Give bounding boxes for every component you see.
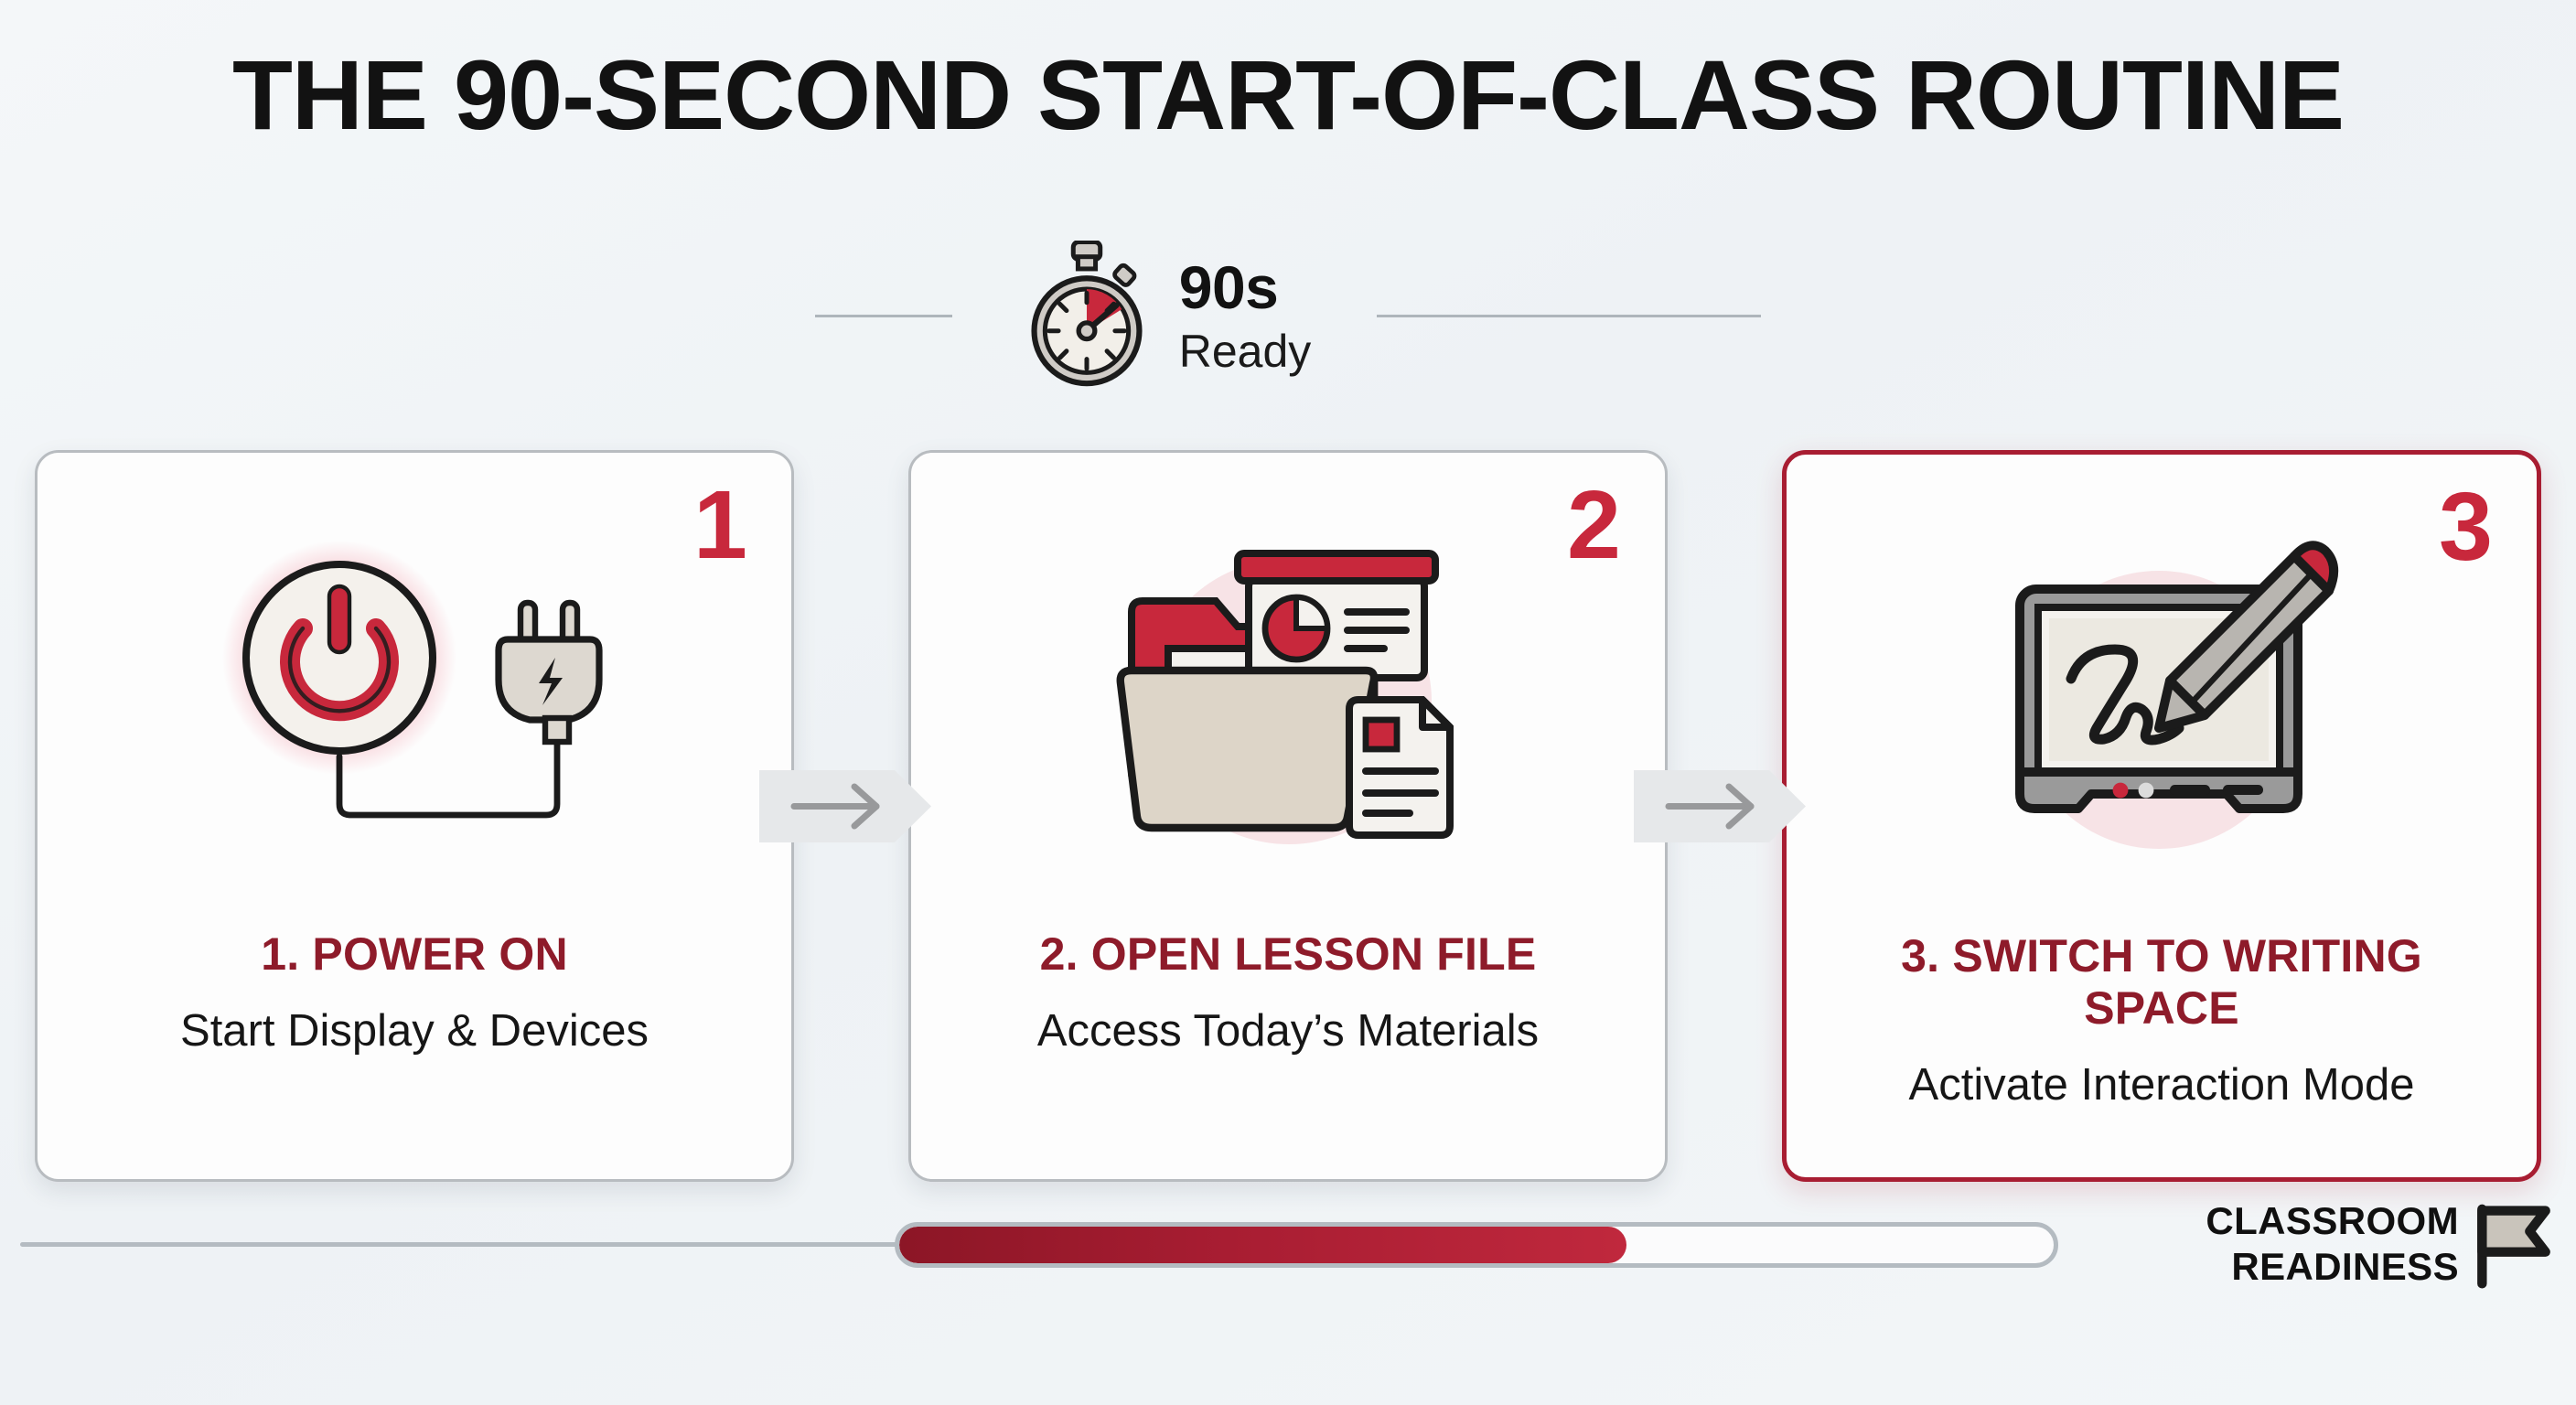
step-card-power-on[interactable]: 1 — [35, 450, 794, 1182]
step-subtitle: Start Display & Devices — [69, 1004, 760, 1058]
step-card-open-lesson-file[interactable]: 2 — [908, 450, 1668, 1182]
flag-icon — [2466, 1196, 2561, 1292]
timer-badge-row: 90s Ready — [0, 229, 2576, 402]
step-subtitle: Activate Interaction Mode — [1818, 1058, 2506, 1112]
timer-value: 90s — [1179, 257, 1312, 317]
step-subtitle: Access Today’s Materials — [942, 1004, 1634, 1058]
readiness-label-line1: CLASSROOM — [2206, 1198, 2459, 1244]
step-title: 3. SWITCH TO WRITING SPACE — [1818, 930, 2506, 1035]
folder-presentation-icon — [911, 509, 1665, 894]
readiness-progress-bar[interactable] — [895, 1222, 2058, 1268]
step-title: 1. POWER ON — [69, 928, 760, 981]
steps-container: 1 — [35, 450, 2541, 1182]
timer-badge: 90s Ready — [1018, 241, 1312, 391]
step-card-text: 1. POWER ON Start Display & Devices — [69, 928, 760, 1058]
power-plug-icon — [38, 509, 791, 894]
readiness-label: CLASSROOM READINESS — [2206, 1198, 2459, 1289]
tablet-stylus-icon — [1787, 511, 2537, 896]
timer-label: Ready — [1179, 328, 1312, 374]
connector-step-1-to-2 — [759, 763, 933, 850]
readiness-label-line2: READINESS — [2206, 1244, 2459, 1290]
step-title: 2. OPEN LESSON FILE — [942, 928, 1634, 981]
page-title: THE 90-SECOND START-OF-CLASS ROUTINE — [0, 42, 2576, 149]
step-card-text: 3. SWITCH TO WRITING SPACE Activate Inte… — [1818, 930, 2506, 1112]
timer-text: 90s Ready — [1179, 257, 1312, 374]
arrow-right-icon — [759, 838, 933, 853]
arrow-right-icon — [1634, 838, 1808, 853]
connector-step-2-to-3 — [1634, 763, 1808, 850]
stopwatch-icon — [1018, 241, 1155, 391]
divider-right — [1377, 315, 1761, 317]
step-card-text: 2. OPEN LESSON FILE Access Today’s Mater… — [942, 928, 1634, 1058]
step-card-switch-to-writing-space[interactable]: 3 — [1782, 450, 2541, 1182]
footer-rule — [20, 1242, 902, 1247]
readiness-progress-fill — [899, 1227, 1626, 1263]
footer: CLASSROOM READINESS — [0, 1182, 2576, 1405]
divider-left — [815, 315, 952, 317]
